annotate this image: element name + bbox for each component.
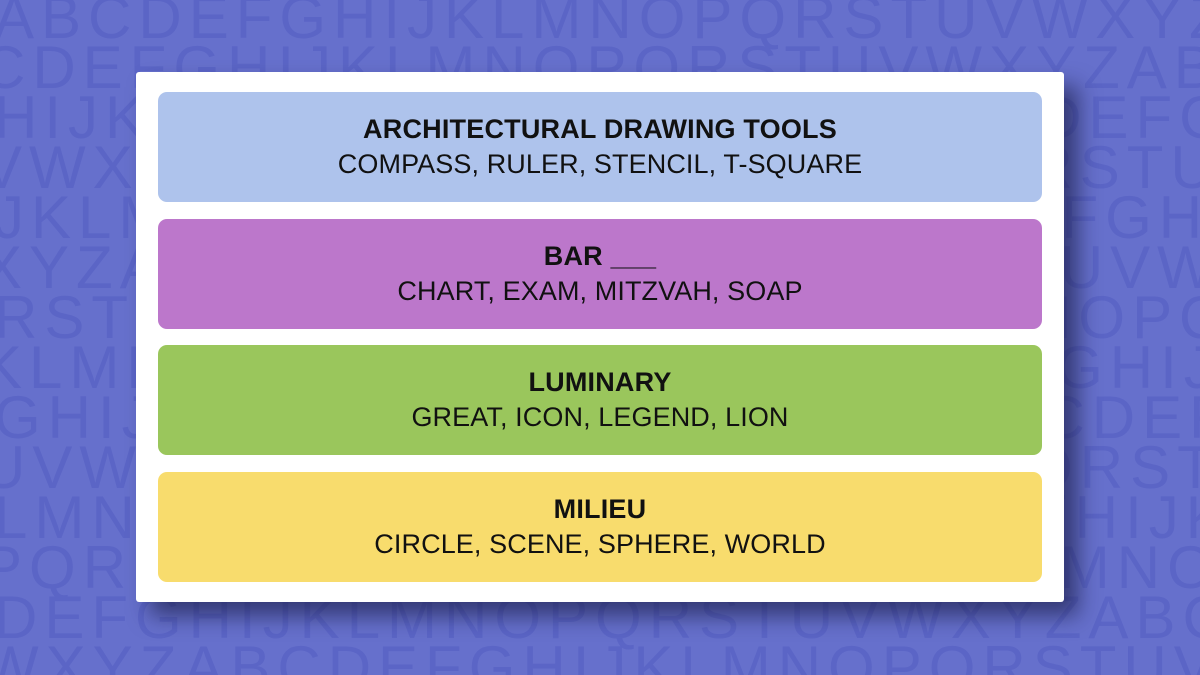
answer-row-1[interactable]: ARCHITECTURAL DRAWING TOOLS COMPASS, RUL… — [158, 92, 1042, 202]
answer-row-1-title: ARCHITECTURAL DRAWING TOOLS — [363, 112, 837, 146]
answer-row-2-members: CHART, EXAM, MITZVAH, SOAP — [397, 273, 802, 309]
background-letter-row: ABCDEFGHIJKLMNOPQRSTUVWXYZABCDEF — [0, 0, 1200, 48]
answer-row-3[interactable]: LUMINARY GREAT, ICON, LEGEND, LION — [158, 345, 1042, 455]
answer-row-3-members: GREAT, ICON, LEGEND, LION — [411, 399, 788, 435]
answer-row-3-title: LUMINARY — [528, 365, 671, 399]
screenshot-stage: ABCDEFGHIJKLMNOPQRSTUVWXYZABCDEFCDEFGHIJ… — [0, 0, 1200, 675]
answer-row-4-members: CIRCLE, SCENE, SPHERE, WORLD — [374, 526, 825, 562]
answer-row-2-title: BAR ___ — [544, 239, 656, 273]
answer-row-1-members: COMPASS, RULER, STENCIL, T-SQUARE — [338, 146, 862, 182]
background-letter-row: WXYZABCDEFGHIJKLMNOPQRSTUVWXYZAB — [0, 638, 1200, 675]
answer-row-4-title: MILIEU — [554, 492, 647, 526]
answer-row-4[interactable]: MILIEU CIRCLE, SCENE, SPHERE, WORLD — [158, 472, 1042, 582]
answers-card: ARCHITECTURAL DRAWING TOOLS COMPASS, RUL… — [136, 72, 1064, 602]
answer-row-2[interactable]: BAR ___ CHART, EXAM, MITZVAH, SOAP — [158, 219, 1042, 329]
